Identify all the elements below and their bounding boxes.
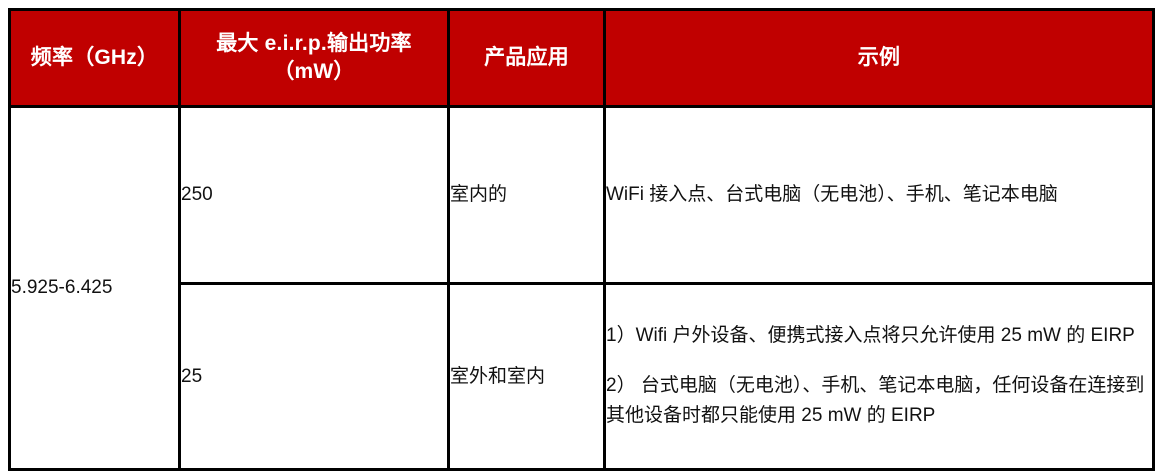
- cell-application-row1: 室内的: [449, 107, 605, 284]
- table-header: 频率（GHz） 最大 e.i.r.p.输出功率 （mW） 产品应用 示例: [10, 10, 1154, 107]
- example-text-row1-item1: WiFi 接入点、台式电脑（无电池）、手机、笔记本电脑: [606, 181, 1152, 210]
- table-header-row: 频率（GHz） 最大 e.i.r.p.输出功率 （mW） 产品应用 示例: [10, 10, 1154, 107]
- example-text-row2-item2: 2） 台式电脑（无电池）、手机、笔记本电脑，任何设备在连接到其他设备时都只能使用…: [606, 371, 1152, 433]
- cell-power-row1: 250: [180, 107, 449, 284]
- column-header-example: 示例: [605, 10, 1154, 107]
- example-text-row2-item1: 1）Wifi 户外设备、便携式接入点将只允许使用 25 mW 的 EIRP: [606, 321, 1152, 352]
- cell-frequency-range: 5.925-6.425: [10, 107, 180, 470]
- table-body: 5.925-6.425 250 室内的 WiFi 接入点、台式电脑（无电池）、手…: [10, 107, 1154, 470]
- cell-examples-row2: 1）Wifi 户外设备、便携式接入点将只允许使用 25 mW 的 EIRP 2）…: [605, 284, 1154, 470]
- column-header-example-line1: 示例: [612, 44, 1146, 72]
- eirp-power-table: 频率（GHz） 最大 e.i.r.p.输出功率 （mW） 产品应用 示例 5.9…: [8, 8, 1155, 471]
- column-header-product-application-line1: 产品应用: [456, 44, 597, 72]
- column-header-frequency: 频率（GHz）: [10, 10, 180, 107]
- table-row: 25 室外和室内 1）Wifi 户外设备、便携式接入点将只允许使用 25 mW …: [10, 284, 1154, 470]
- table-row: 5.925-6.425 250 室内的 WiFi 接入点、台式电脑（无电池）、手…: [10, 107, 1154, 284]
- cell-application-row2: 室外和室内: [449, 284, 605, 470]
- cell-power-row2: 25: [180, 284, 449, 470]
- column-header-max-eirp-line1: 最大 e.i.r.p.输出功率: [187, 30, 441, 58]
- column-header-max-eirp-line2: （mW）: [187, 58, 441, 86]
- page-root: 频率（GHz） 最大 e.i.r.p.输出功率 （mW） 产品应用 示例 5.9…: [0, 0, 1160, 466]
- column-header-max-eirp: 最大 e.i.r.p.输出功率 （mW）: [180, 10, 449, 107]
- column-header-product-application: 产品应用: [449, 10, 605, 107]
- column-header-frequency-line1: 频率（GHz）: [17, 44, 172, 72]
- cell-examples-row1: WiFi 接入点、台式电脑（无电池）、手机、笔记本电脑: [605, 107, 1154, 284]
